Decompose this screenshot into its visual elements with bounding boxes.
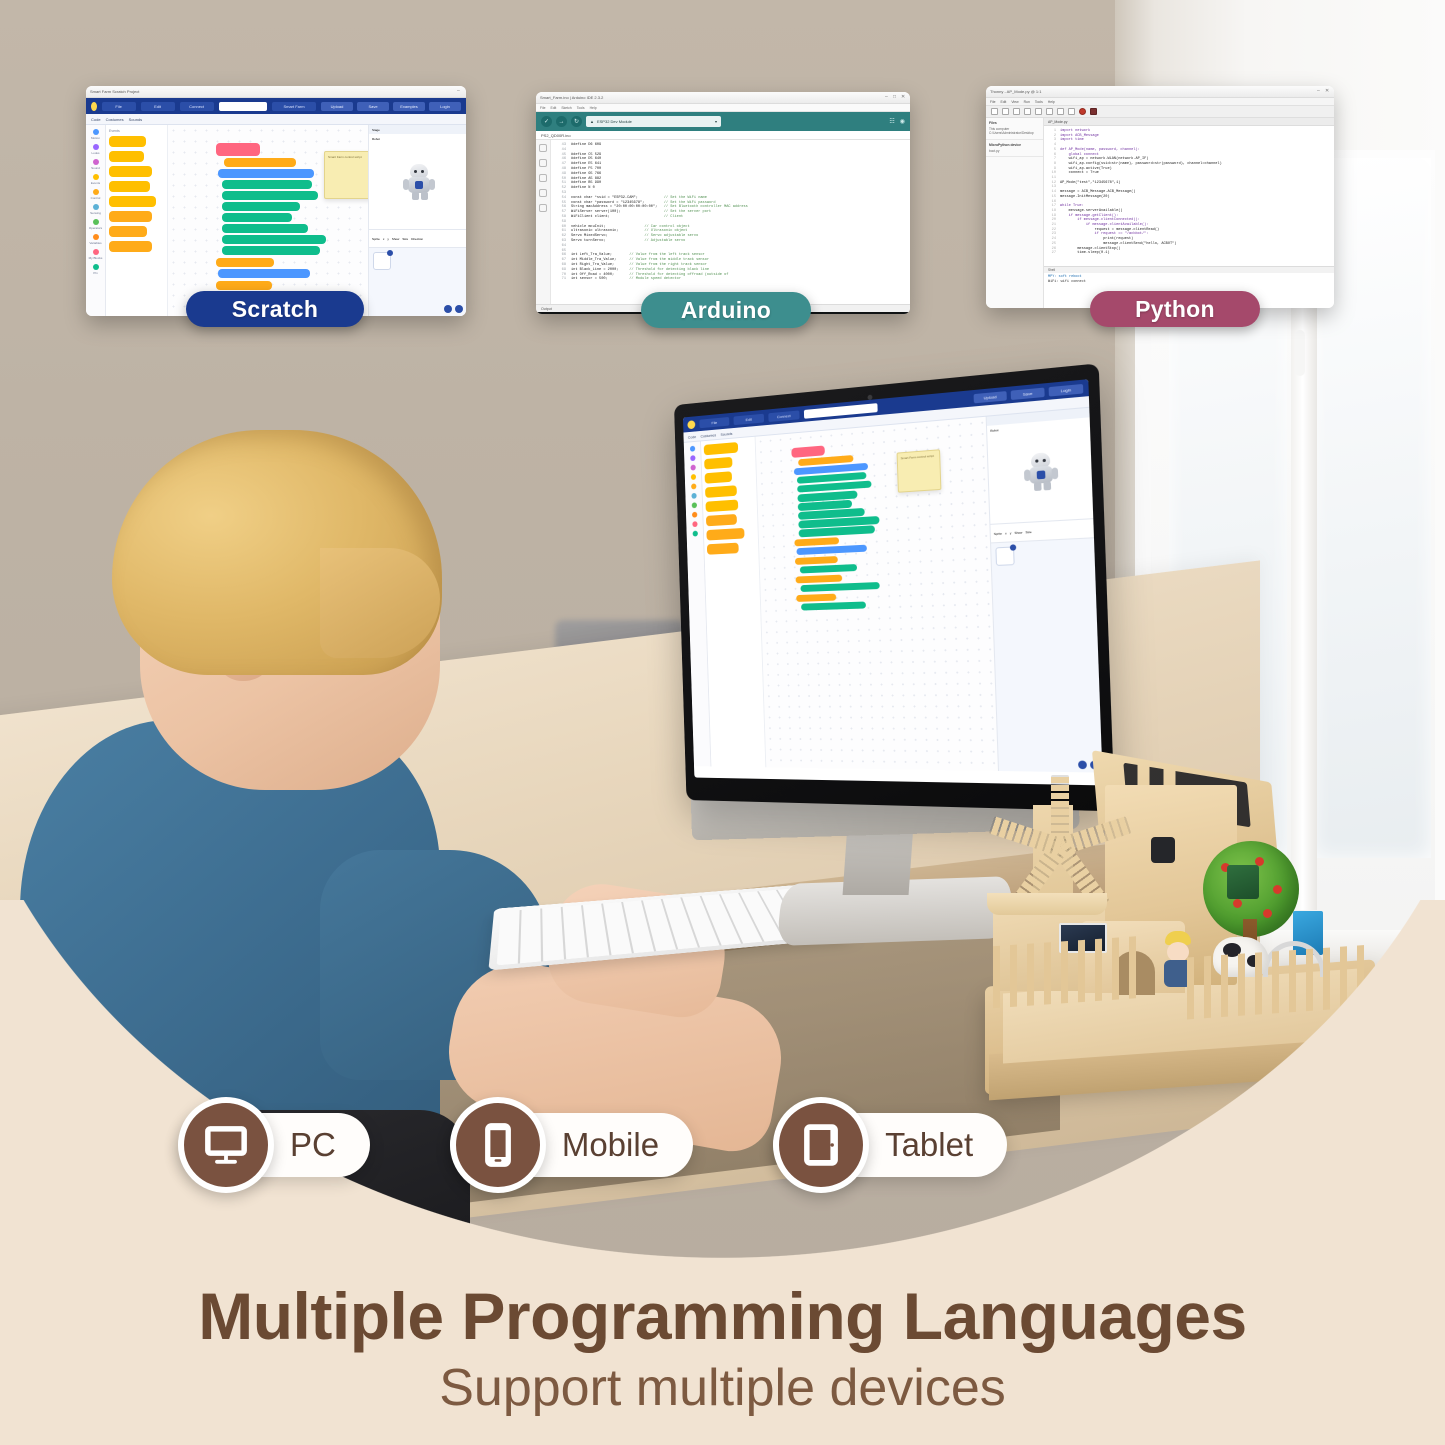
language-badge-arduino: Arduino [641, 292, 811, 328]
screen-prop-size: Size [1025, 529, 1031, 533]
code-text: time.sleep(0.1) [1060, 251, 1110, 256]
palette-block[interactable] [707, 543, 739, 555]
palette-blocks[interactable] [109, 136, 164, 252]
category-label: Motion [91, 136, 100, 140]
scratch-titlebar: Smart Farm Scratch Project – [86, 86, 466, 98]
python-body: Files This computer C:\Users\Administrat… [986, 118, 1334, 308]
maximize-icon[interactable]: □ [893, 95, 898, 100]
scratch-category-sensing[interactable]: Sensing [86, 204, 105, 215]
shell-line: WiFi: wifi connect [1048, 280, 1330, 285]
arduino-menu-sketch[interactable]: Sketch [561, 106, 571, 110]
script-block[interactable] [222, 235, 326, 244]
palette-block[interactable] [109, 196, 156, 207]
code-text: Servo turnServo; // Adjustable servo [571, 239, 685, 244]
robot-leg-left [1034, 482, 1042, 491]
scratch-stage-area: Robot [369, 134, 466, 230]
scratch-category-operators[interactable] [686, 502, 703, 509]
robot-leg-right [421, 192, 428, 200]
prop-show-label: Show [392, 237, 400, 241]
palette-block[interactable] [109, 136, 146, 147]
robot-leg-right [1043, 482, 1051, 491]
minimize-icon[interactable]: – [885, 95, 890, 100]
script-block[interactable] [800, 564, 857, 574]
screen-sprite-card[interactable] [995, 546, 1014, 566]
category-label: Variables [89, 241, 101, 245]
scratch-ide-card: Smart Farm Scratch Project – File Edit C… [86, 86, 466, 316]
prop-x-label: x [383, 237, 385, 241]
script-block[interactable] [796, 574, 842, 583]
python-sidebar: Files This computer C:\Users\Administrat… [986, 118, 1044, 308]
scratch-sprite-panel: Sprite x y Show Size Direction [369, 230, 466, 316]
save-icon[interactable] [1013, 108, 1020, 115]
board-icon: ▲ [590, 119, 594, 124]
scratch-window-title: Smart Farm Scratch Project [90, 89, 454, 94]
screen-menu-connect[interactable]: Connect [768, 410, 799, 422]
scratch-menu-edit[interactable]: Edit [141, 102, 175, 111]
code-text: import time [1060, 138, 1084, 143]
robot-arm-left [403, 179, 409, 190]
screen-menu-edit[interactable]: Edit [733, 413, 764, 424]
tablet-icon [773, 1097, 869, 1193]
scratch-logo-icon [687, 420, 695, 429]
palette-block[interactable] [706, 500, 739, 513]
robot-eye-right [421, 170, 424, 173]
arduino-titlebar: Smart_Farm.ino | Arduino IDE 2.3.2 – □ ✕ [536, 92, 910, 104]
palette-block[interactable] [705, 485, 737, 498]
step-out-icon[interactable] [1068, 108, 1075, 115]
script-block[interactable] [792, 445, 826, 458]
device-section: MicroPython device boot.py [986, 140, 1043, 157]
scratch-sprite-props: Sprite x y Show Size Direction [369, 230, 466, 248]
category-label: Operators [89, 226, 102, 230]
palette-block[interactable] [705, 471, 732, 483]
chevron-down-icon: ▾ [715, 119, 717, 124]
category-dot-icon [93, 249, 99, 255]
palette-block[interactable] [109, 226, 147, 237]
arduino-activity-bar [536, 140, 551, 304]
prop-sprite-label: Sprite [372, 237, 380, 241]
category-dot-icon [93, 204, 99, 210]
close-icon[interactable]: ✕ [901, 95, 906, 100]
palette-block[interactable] [109, 151, 144, 162]
scratch-login-button[interactable]: Login [429, 102, 461, 111]
script-block[interactable] [216, 143, 260, 156]
run-icon[interactable] [1024, 108, 1031, 115]
screen-upload-button[interactable]: Upload [974, 391, 1007, 403]
scratch-category-events[interactable] [685, 474, 702, 481]
category-label: Pin [93, 271, 97, 275]
category-dot-icon [691, 502, 696, 508]
prop-direction-label: Direction [411, 237, 423, 241]
python-file-tab[interactable]: AP_Mode.py [1048, 120, 1067, 124]
scratch-search-input[interactable] [219, 102, 267, 111]
scratch-category-looks[interactable]: Looks [86, 144, 105, 155]
device-badge-mobile[interactable]: Mobile [450, 1097, 693, 1193]
python-shell-label: Shell [1048, 268, 1055, 272]
category-label: Events [91, 181, 100, 185]
category-dot-icon [93, 189, 99, 195]
sensor-board-module [1227, 865, 1259, 899]
robot-chest-badge [1037, 470, 1046, 479]
verify-check-icon[interactable]: ✓ [541, 116, 552, 127]
category-dot-icon [690, 455, 695, 461]
robot-eye-left [414, 170, 417, 173]
arduino-menubar: FileEditSketchToolsHelp [536, 104, 910, 112]
category-dot-icon [691, 483, 696, 489]
code-text: #define N 0 [571, 186, 595, 191]
script-block[interactable] [222, 191, 318, 200]
debug-icon[interactable]: ↻ [571, 116, 582, 127]
screen-stage-area: Robot [987, 417, 1093, 525]
scratch-category-pin[interactable] [687, 530, 704, 537]
palette-block[interactable] [706, 514, 737, 526]
motion-sensor-module [1151, 837, 1175, 863]
board-selector-label: ESP32 Dev Module [597, 119, 632, 124]
apple-3 [1273, 885, 1282, 894]
arduino-toolbar: ✓ → ↻ ▲ ESP32 Dev Module ▾ ☷ ◉ [536, 112, 910, 131]
scratch-category-variables[interactable]: Variables [86, 234, 105, 245]
palette-block[interactable] [704, 442, 739, 455]
scratch-sprite-name: Robot [372, 137, 380, 141]
stop-icon[interactable] [1079, 108, 1086, 115]
screen-prop-sprite: Sprite [994, 531, 1002, 536]
screen-tab-costumes[interactable]: Costumes [700, 432, 716, 438]
scratch-tab-costumes[interactable]: Costumes [106, 117, 124, 122]
scratch-category-pin[interactable]: Pin [86, 264, 105, 275]
script-block[interactable] [218, 269, 310, 278]
new-file-icon[interactable] [991, 108, 998, 115]
arduino-ide-card: Smart_Farm.ino | Arduino IDE 2.3.2 – □ ✕… [536, 92, 910, 314]
category-label: Control [91, 196, 101, 200]
monitor-screen: File Edit Connect Upload Save Login Code… [683, 379, 1103, 785]
python-menu-view[interactable]: View [1011, 100, 1018, 104]
robot-arm-right [1051, 467, 1058, 479]
category-dot-icon [93, 159, 99, 165]
screen-body: Smart Farm control script Robot [684, 408, 1103, 773]
arduino-menu-file[interactable]: File [540, 106, 545, 110]
scratch-category-my-blocks[interactable] [686, 521, 703, 528]
scratch-body: MotionLooksSoundEventsControlSensingOper… [86, 125, 466, 316]
window-handle-icon [1295, 330, 1305, 376]
scratch-category-control[interactable]: Control [86, 189, 105, 200]
screen-prop-x: x [1005, 531, 1007, 535]
code-text: message.InitMessage(20) [1060, 195, 1110, 200]
category-dot-icon [689, 446, 694, 452]
sprite-thumbnail-card[interactable] [373, 252, 391, 270]
stage-fab-group [444, 305, 463, 313]
category-dot-icon [93, 264, 99, 270]
scratch-logo-icon [91, 102, 97, 111]
category-dot-icon [93, 174, 99, 180]
device-badge-row: PC Mobile Tablet [178, 1093, 1288, 1197]
library-manager-icon[interactable] [539, 174, 547, 182]
screen-tab-code[interactable]: Code [688, 434, 696, 439]
script-block[interactable] [216, 281, 272, 290]
palette-block[interactable] [109, 211, 152, 222]
category-dot-icon [93, 219, 99, 225]
language-badge-python: Python [1090, 291, 1260, 327]
python-menu-tools[interactable]: Tools [1035, 100, 1043, 104]
add-sprite-button[interactable] [444, 305, 452, 313]
arduino-code-editor[interactable]: 43#define D6 6094445#define C5 52946#def… [551, 140, 910, 304]
language-badge-scratch: Scratch [186, 291, 364, 327]
files-row-path[interactable]: C:\Users\Administrator\Desktop [989, 131, 1040, 135]
scratch-category-my-blocks[interactable]: My Blocks [86, 249, 105, 260]
serial-monitor-icon[interactable]: ◉ [900, 118, 905, 125]
arduino-window-title: Smart_Farm.ino | Arduino IDE 2.3.2 [540, 95, 882, 100]
category-dot-icon [93, 129, 99, 135]
prop-y-label: y [387, 237, 389, 241]
scratch-save-button[interactable]: Save [357, 102, 389, 111]
robot-sprite-icon [1023, 452, 1058, 492]
scratch-category-motion[interactable]: Motion [86, 129, 105, 140]
script-block[interactable] [801, 582, 880, 592]
arduino-sketch-tab[interactable]: PS2_QD00R.ino [541, 133, 571, 138]
code-line: 27 time.sleep(0.1) [1044, 251, 1334, 256]
code-line: 71int sensor = 500; // Module speed dete… [551, 277, 910, 282]
arduino-menu-help[interactable]: Help [590, 106, 597, 110]
scratch-category-events[interactable]: Events [86, 174, 105, 185]
screen-sticky-note: Smart Farm control script [897, 449, 942, 493]
scratch-category-motion[interactable] [684, 445, 701, 452]
scratch-project-name[interactable]: Smart Farm [272, 102, 316, 111]
screen-stage-label: Robot [990, 428, 998, 433]
screen-save-button[interactable]: Save [1011, 387, 1045, 399]
step-over-icon[interactable] [1046, 108, 1053, 115]
code-text: WiFiClient client; // Client [571, 215, 683, 220]
search-icon[interactable] [539, 204, 547, 212]
screen-sprite-delete-icon[interactable] [1010, 544, 1016, 551]
robot-chest-badge [415, 181, 423, 189]
category-label: Sound [91, 166, 100, 170]
category-dot-icon [692, 521, 697, 527]
scratch-toolbar-right: Upload Save Examples Login [321, 102, 461, 111]
code-text: int sensor = 500; // Module speed detect… [571, 277, 681, 282]
scratch-examples-button[interactable]: Examples [393, 102, 425, 111]
arduino-menu-edit[interactable]: Edit [550, 106, 556, 110]
stage-tab-label[interactable]: Stage [372, 128, 380, 132]
script-block[interactable] [801, 601, 866, 610]
scratch-category-sound[interactable] [684, 464, 701, 471]
screen-menu-file[interactable]: File [699, 416, 729, 427]
robot-sprite-icon [403, 164, 435, 200]
python-code-editor[interactable]: 1import network2import ACB_Message3impor… [1044, 126, 1334, 266]
robot-arm-right [429, 179, 435, 190]
scratch-subbar: Code Costumes Sounds [86, 114, 466, 125]
category-dot-icon [692, 512, 697, 518]
scratch-sticky-note: Smart Farm control script [324, 151, 368, 199]
line-number: 27 [1047, 251, 1056, 256]
python-menu-help[interactable]: Help [1048, 100, 1055, 104]
python-window-title: Thonny - AP_Mode.py @ 1:1 [990, 89, 1314, 94]
script-block[interactable] [222, 224, 308, 233]
robot-arm-left [1024, 469, 1031, 481]
shell-icon[interactable] [1090, 108, 1097, 115]
palette-block[interactable] [109, 166, 152, 177]
arduino-menu-tools[interactable]: Tools [577, 106, 585, 110]
category-label: Looks [91, 151, 99, 155]
scratch-stage-panel: Stage Robot Sprite [368, 125, 466, 316]
scratch-tab-code[interactable]: Code [91, 117, 101, 122]
scratch-tab-sounds[interactable]: Sounds [129, 117, 143, 122]
python-titlebar: Thonny - AP_Mode.py @ 1:1 – ✕ [986, 86, 1334, 98]
scratch-category-list: MotionLooksSoundEventsControlSensingOper… [86, 125, 106, 316]
open-file-icon[interactable] [1002, 108, 1009, 115]
device-row-bootpy[interactable]: boot.py [989, 149, 1040, 153]
script-block[interactable] [218, 169, 314, 178]
scratch-category-sensing[interactable] [685, 492, 702, 499]
script-block[interactable] [222, 202, 300, 211]
debug-panel-icon[interactable] [539, 189, 547, 197]
python-menu-run[interactable]: Run [1024, 100, 1030, 104]
python-ide-card: Thonny - AP_Mode.py @ 1:1 – ✕ FileEditVi… [986, 86, 1334, 308]
robot-leg-left [412, 192, 419, 200]
arduino-toolbar-right: ☷ ◉ [889, 118, 905, 125]
screen-prop-show: Show [1014, 530, 1022, 535]
category-dot-icon [690, 465, 695, 471]
script-block[interactable] [795, 556, 838, 565]
screen-sprite-panel: Sprite x y Show Size [990, 519, 1102, 772]
scratch-category-control[interactable] [685, 483, 702, 490]
arduino-tabbar: PS2_QD00R.ino [536, 131, 910, 140]
category-dot-icon [93, 234, 99, 240]
arduino-body: 43#define D6 6094445#define C5 52946#def… [536, 140, 910, 304]
board-selector[interactable]: ▲ ESP32 Dev Module ▾ [586, 116, 721, 127]
script-block[interactable] [222, 213, 292, 222]
python-shell-header: Shell [1044, 266, 1334, 273]
python-menu-edit[interactable]: Edit [1000, 100, 1006, 104]
python-main: AP_Mode.py 1import network2import ACB_Me… [1044, 118, 1334, 308]
sprite-delete-icon[interactable] [387, 250, 393, 256]
python-toolbar [986, 106, 1334, 118]
scratch-menubar: File Edit Connect Smart Farm Upload Save… [86, 98, 466, 114]
robot-head [410, 164, 428, 178]
category-dot-icon [692, 531, 697, 537]
scratch-category-variables[interactable] [686, 511, 703, 518]
scratch-menu-file[interactable]: File [102, 102, 136, 111]
code-text: AP_Mode("test","12345678",1) [1060, 181, 1120, 186]
scratch-category-operators[interactable]: Operators [86, 219, 105, 230]
category-dot-icon [690, 474, 695, 480]
device-badge-tablet[interactable]: Tablet [773, 1097, 1007, 1193]
files-section: Files This computer C:\Users\Administrat… [986, 118, 1043, 140]
category-dot-icon [93, 144, 99, 150]
smartphone-icon [450, 1097, 546, 1193]
category-label: Sensing [90, 211, 101, 215]
script-block[interactable] [796, 545, 867, 556]
script-block[interactable] [795, 537, 839, 547]
palette-block[interactable] [704, 457, 732, 470]
minimize-icon[interactable]: – [1317, 89, 1322, 94]
screen-prop-y: y [1010, 530, 1012, 534]
device-title: MicroPython device [989, 143, 1040, 147]
sketchbook-icon[interactable] [539, 144, 547, 152]
palette-header: Events [109, 129, 164, 133]
palette-block[interactable] [109, 181, 150, 192]
upload-arrow-icon[interactable]: → [556, 116, 567, 127]
script-block[interactable] [796, 593, 836, 602]
line-number: 71 [554, 277, 566, 282]
screen-script-canvas[interactable]: Smart Farm control script [756, 417, 998, 771]
palette-block[interactable] [109, 241, 152, 252]
serial-plotter-icon[interactable]: ☷ [889, 118, 894, 125]
scratch-script-canvas[interactable]: Smart Farm control script [168, 125, 368, 316]
boy-hair [112, 430, 442, 675]
close-icon[interactable]: ✕ [1325, 89, 1330, 94]
scratch-category-sound[interactable]: Sound [86, 159, 105, 170]
scratch-upload-button[interactable]: Upload [321, 102, 353, 111]
category-dot-icon [691, 493, 696, 499]
arduino-output-label: Output [541, 307, 552, 311]
debug-icon[interactable] [1035, 108, 1042, 115]
code-text: #define D6 609 [571, 143, 601, 148]
scratch-menu-connect[interactable]: Connect [180, 102, 214, 111]
screen-tab-sounds[interactable]: Sounds [720, 431, 732, 437]
code-text: connect = True [1060, 171, 1099, 176]
prop-size-label: Size [402, 237, 408, 241]
script-block[interactable] [224, 158, 296, 167]
script-block[interactable] [222, 180, 312, 189]
files-title: Files [989, 121, 1040, 125]
page-title: Multiple Programming Languages [0, 1278, 1445, 1354]
screen-login-button[interactable]: Login [1049, 383, 1084, 396]
python-tabbar: AP_Mode.py [1044, 118, 1334, 126]
scratch-stage-header: Stage [369, 125, 466, 134]
step-into-icon[interactable] [1057, 108, 1064, 115]
scratch-category-looks[interactable] [684, 455, 701, 462]
boards-manager-icon[interactable] [539, 159, 547, 167]
python-menu-file[interactable]: File [990, 100, 995, 104]
minimize-icon[interactable]: – [457, 89, 462, 94]
scratch-block-palette: Events [106, 125, 168, 316]
script-block[interactable] [216, 258, 274, 267]
page-subtitle: Support multiple devices [0, 1358, 1445, 1418]
device-badge-pc[interactable]: PC [178, 1097, 370, 1193]
add-backdrop-button[interactable] [455, 305, 463, 313]
palette-block[interactable] [706, 528, 744, 541]
screen-stage-panel: Robot [986, 408, 1103, 773]
desktop-monitor-icon [178, 1097, 274, 1193]
python-menubar: FileEditViewRunToolsHelp [986, 98, 1334, 106]
script-block[interactable] [222, 246, 320, 255]
category-label: My Blocks [89, 256, 103, 260]
